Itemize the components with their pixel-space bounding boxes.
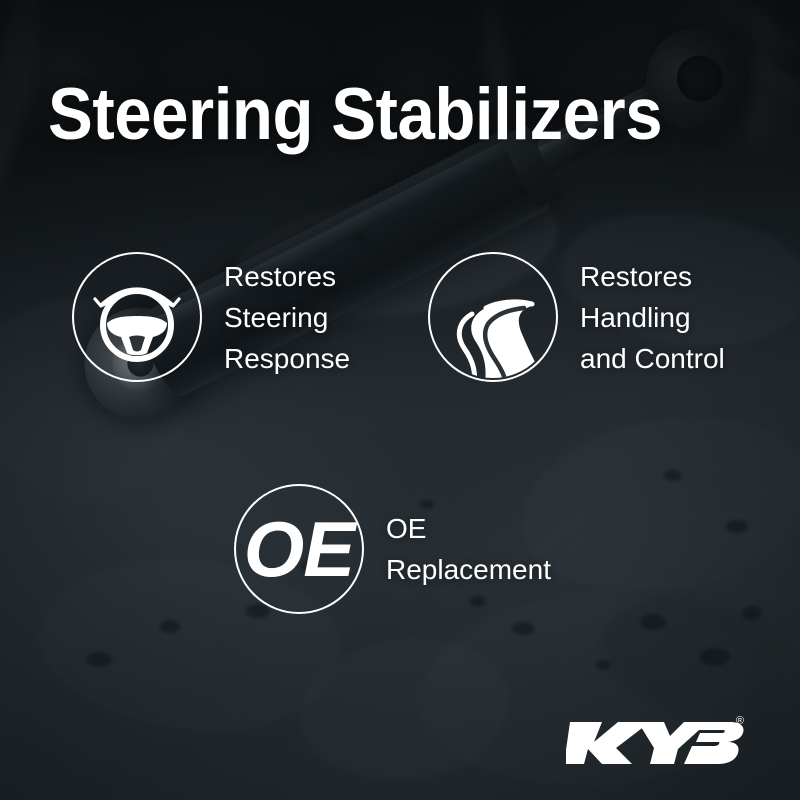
steering-wheel-icon (72, 252, 202, 382)
feature-label: Restores Handling and Control (580, 256, 725, 379)
feature-label: Restores Steering Response (224, 256, 350, 379)
oe-badge-icon: OE (234, 484, 364, 614)
registered-trademark-icon: ® (736, 716, 744, 727)
banner-content: Steering Stabilizers Restores Steering R… (0, 0, 800, 800)
oe-badge-text: OE (244, 510, 355, 588)
feature-restores-handling-and-control: Restores Handling and Control (428, 252, 725, 382)
feature-restores-steering-response: Restores Steering Response (72, 252, 350, 382)
winding-road-icon (428, 252, 558, 382)
product-banner: Steering Stabilizers Restores Steering R… (0, 0, 800, 800)
kyb-logo: ® (566, 714, 746, 770)
feature-label: OE Replacement (386, 508, 551, 590)
page-title: Steering Stabilizers (48, 76, 662, 154)
feature-oe-replacement: OE OE Replacement (234, 484, 551, 614)
